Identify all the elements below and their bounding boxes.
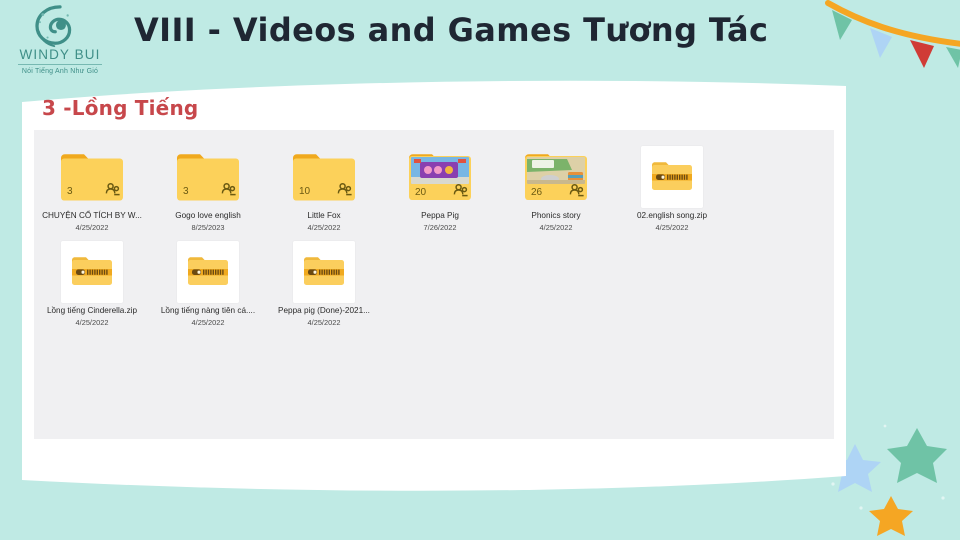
zip-archive-icon[interactable] bbox=[150, 239, 266, 305]
svg-text:26: 26 bbox=[531, 187, 543, 198]
content-card: 3 -Lồng Tiếng 3CHUYỆN CỔ TÍCH BY W...4/2… bbox=[22, 76, 846, 504]
file-date: 8/25/2023 bbox=[150, 222, 266, 233]
file-tile[interactable]: 02.english song.zip4/25/2022 bbox=[614, 138, 730, 233]
zip-archive-icon[interactable] bbox=[266, 239, 382, 305]
file-tile[interactable]: Lồng tiếng Cinderella.zip4/25/2022 bbox=[34, 233, 150, 328]
file-tile[interactable]: 3CHUYỆN CỔ TÍCH BY W...4/25/2022 bbox=[34, 138, 150, 233]
logo-tagline: Nói Tiếng Anh Như Gió bbox=[4, 67, 116, 76]
file-name: Little Fox bbox=[266, 210, 382, 221]
file-date: 7/26/2022 bbox=[382, 222, 498, 233]
file-date: 4/25/2022 bbox=[266, 317, 382, 328]
zip-icon-card bbox=[61, 241, 123, 303]
file-date: 4/25/2022 bbox=[150, 317, 266, 328]
page-title: VIII - Videos and Games Tương Tác bbox=[134, 11, 768, 49]
brand-logo: WINDY BUI Nói Tiếng Anh Như Gió bbox=[4, 2, 116, 82]
file-tile[interactable]: Lồng tiếng nàng tiên cá....4/25/2022 bbox=[150, 233, 266, 328]
svg-text:3: 3 bbox=[67, 186, 73, 197]
folder-shared-thumbnail-icon[interactable]: 26 bbox=[498, 144, 614, 210]
file-date: 4/25/2022 bbox=[34, 317, 150, 328]
file-date: 4/25/2022 bbox=[614, 222, 730, 233]
file-date: 4/25/2022 bbox=[266, 222, 382, 233]
zip-icon-card bbox=[641, 146, 703, 208]
file-date: 4/25/2022 bbox=[498, 222, 614, 233]
zip-icon-card bbox=[293, 241, 355, 303]
file-name: Phonics story bbox=[498, 210, 614, 221]
slide-canvas: WINDY BUI Nói Tiếng Anh Như Gió VIII - V… bbox=[0, 0, 960, 540]
file-name: Lồng tiếng Cinderella.zip bbox=[34, 305, 150, 316]
file-tile[interactable]: 26Phonics story4/25/2022 bbox=[498, 138, 614, 233]
logo-name: WINDY BUI bbox=[4, 48, 116, 62]
file-tile[interactable]: 3Gogo love english8/25/2023 bbox=[150, 138, 266, 233]
file-name: CHUYỆN CỔ TÍCH BY W... bbox=[34, 210, 150, 221]
svg-text:3: 3 bbox=[183, 186, 189, 197]
svg-text:20: 20 bbox=[415, 187, 427, 198]
zip-archive-icon[interactable] bbox=[34, 239, 150, 305]
file-tile[interactable]: 20Peppa Pig7/26/2022 bbox=[382, 138, 498, 233]
folder-shared-icon[interactable]: 3 bbox=[34, 144, 150, 210]
file-name: Peppa pig (Done)-2021... bbox=[266, 305, 382, 316]
file-tile[interactable]: 10Little Fox4/25/2022 bbox=[266, 138, 382, 233]
section-title: 3 -Lồng Tiếng bbox=[42, 96, 198, 120]
logo-divider bbox=[18, 64, 102, 65]
file-name: Peppa Pig bbox=[382, 210, 498, 221]
file-grid: 3CHUYỆN CỔ TÍCH BY W...4/25/20223Gogo lo… bbox=[34, 138, 834, 328]
file-name: Gogo love english bbox=[150, 210, 266, 221]
zip-archive-icon[interactable] bbox=[614, 144, 730, 210]
file-tile[interactable]: Peppa pig (Done)-2021...4/25/2022 bbox=[266, 233, 382, 328]
svg-text:10: 10 bbox=[299, 186, 311, 197]
file-date: 4/25/2022 bbox=[34, 222, 150, 233]
file-name: 02.english song.zip bbox=[614, 210, 730, 221]
folder-shared-icon[interactable]: 3 bbox=[150, 144, 266, 210]
folder-shared-icon[interactable]: 10 bbox=[266, 144, 382, 210]
folder-shared-thumbnail-icon[interactable]: 20 bbox=[382, 144, 498, 210]
file-explorer-panel[interactable]: 3CHUYỆN CỔ TÍCH BY W...4/25/20223Gogo lo… bbox=[34, 130, 834, 439]
spiral-wind-icon bbox=[31, 3, 89, 49]
zip-icon-card bbox=[177, 241, 239, 303]
file-name: Lồng tiếng nàng tiên cá.... bbox=[150, 305, 266, 316]
